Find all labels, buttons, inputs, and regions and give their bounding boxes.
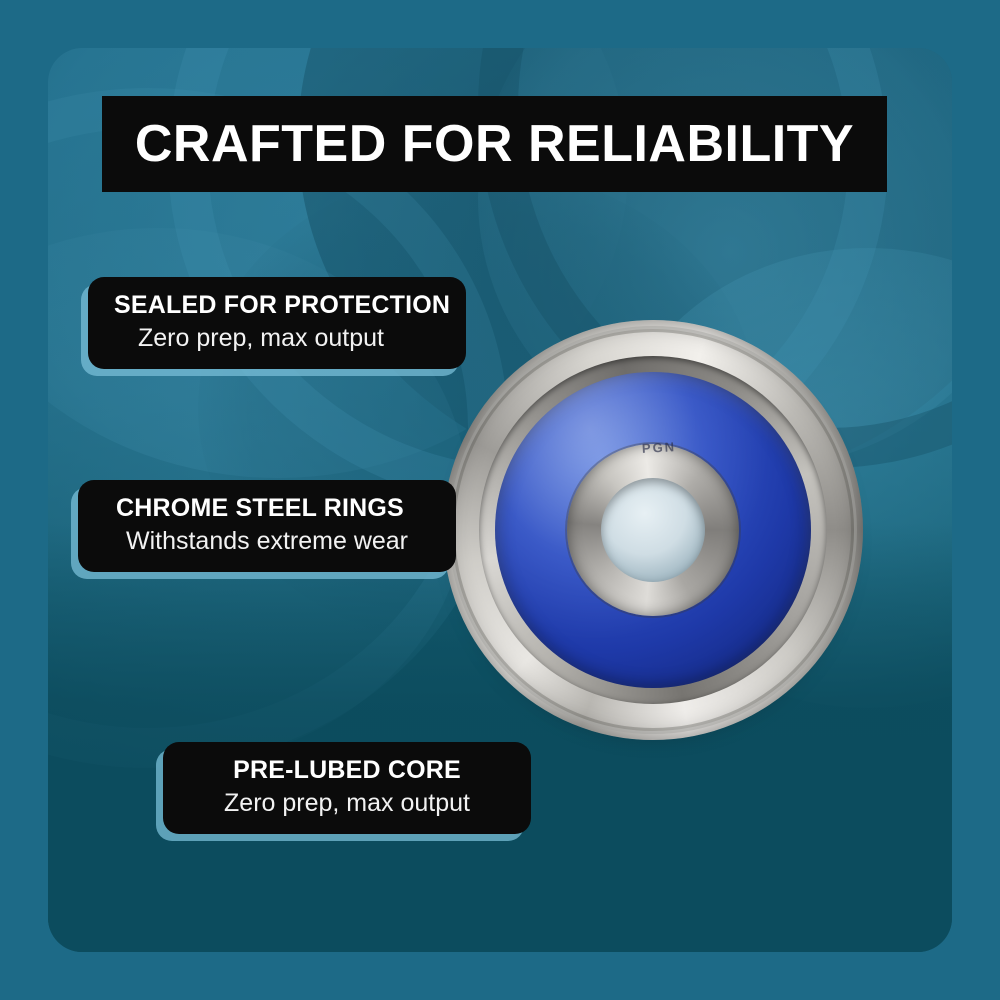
feature-subtitle: Withstands extreme wear — [104, 526, 430, 556]
feature-card-sealed-for-protection: SEALED FOR PROTECTION Zero prep, max out… — [88, 277, 466, 369]
title-banner: CRAFTED FOR RELIABILITY — [102, 96, 887, 192]
feature-card-pre-lubed-core: PRE-LUBED CORE Zero prep, max output — [163, 742, 531, 834]
bearing-bore — [601, 478, 705, 582]
bearing-brand-mark: PGN — [629, 438, 690, 456]
feature-title: SEALED FOR PROTECTION — [114, 291, 440, 320]
feature-title: PRE-LUBED CORE — [189, 756, 505, 785]
feature-subtitle: Zero prep, max output — [114, 323, 440, 353]
feature-subtitle: Zero prep, max output — [189, 788, 505, 818]
poster-canvas: PGN CRAFTED FOR RELIABILITY SEALED FOR P… — [0, 0, 1000, 1000]
product-image-ball-bearing: PGN — [443, 320, 863, 740]
feature-card-chrome-steel-rings: CHROME STEEL RINGS Withstands extreme we… — [78, 480, 456, 572]
page-title: CRAFTED FOR RELIABILITY — [135, 118, 854, 170]
feature-title: CHROME STEEL RINGS — [104, 494, 430, 523]
